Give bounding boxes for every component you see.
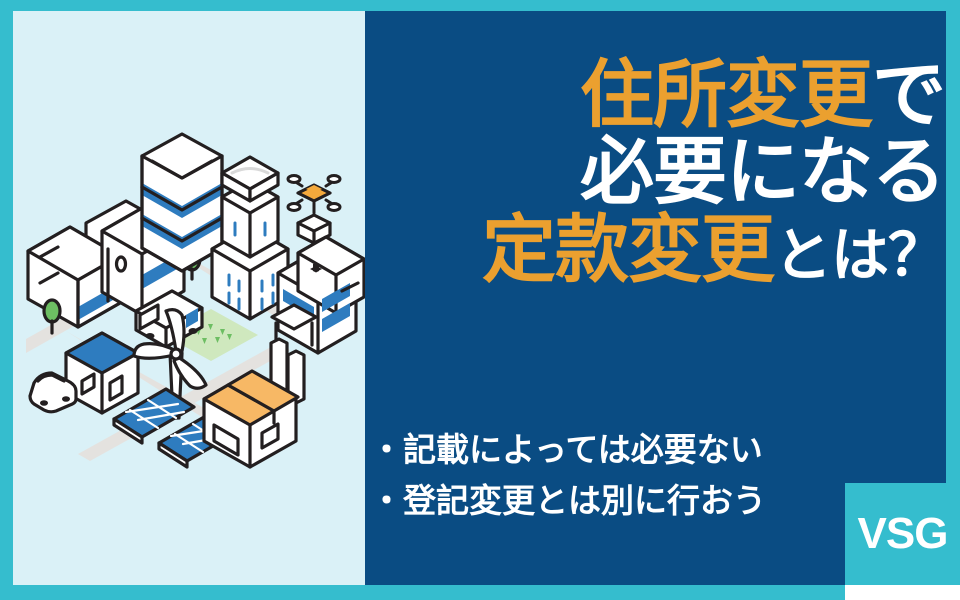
bottom-white-strip <box>845 585 960 600</box>
headline-line-1: 住所変更で <box>385 58 945 133</box>
headline-line-1-orange: 住所変更 <box>580 52 872 138</box>
headline-line-3-orange: 定款変更 <box>482 207 774 293</box>
headline-line-2: 必要になる <box>385 135 945 210</box>
headline-line-3: 定款変更とは？ <box>385 213 945 288</box>
vsg-logo-text: VSG <box>858 512 948 556</box>
thumbnail-canvas: 住所変更で 必要になる 定款変更とは？ ・記載によっては必要ない ・登記変更とは… <box>0 0 960 600</box>
headline-line-3-white: とは？ <box>774 221 945 289</box>
headline-line-2-white: 必要になる <box>580 129 945 215</box>
isometric-city-illustration <box>26 131 378 471</box>
illustration-panel <box>13 11 365 585</box>
bullet-item: ・記載によっては必要ない <box>370 424 950 475</box>
vsg-logo-box: VSG <box>845 483 960 585</box>
headline-block: 住所変更で 必要になる 定款変更とは？ <box>385 58 945 288</box>
headline-line-1-white: で <box>872 52 945 138</box>
